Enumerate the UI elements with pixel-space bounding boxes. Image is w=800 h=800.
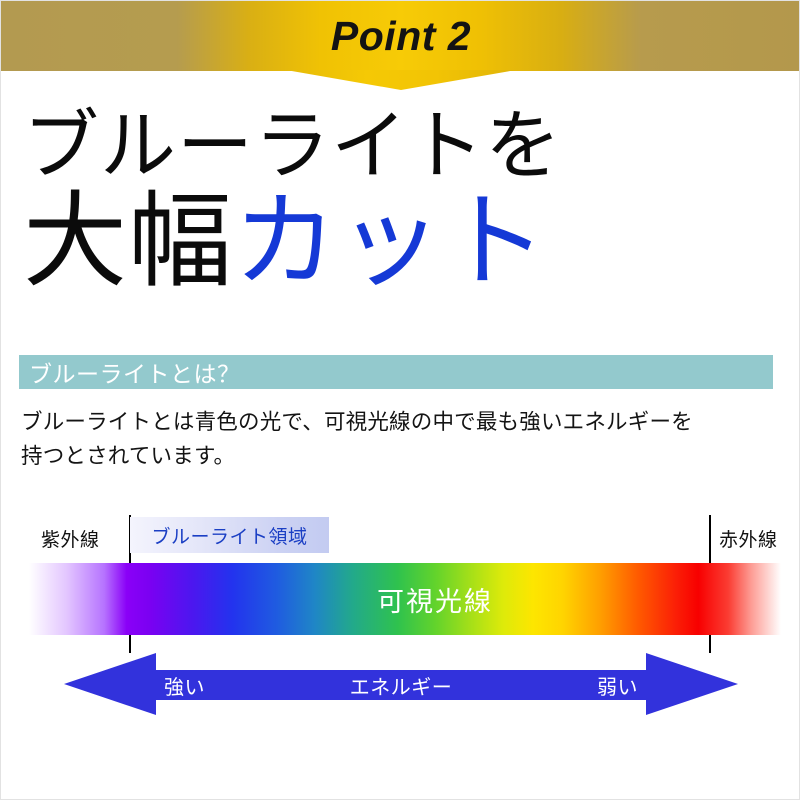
spectrum-band-label: 可視光線 — [317, 580, 493, 619]
label-bluelight-region: ブルーライト領域 — [151, 522, 307, 549]
headline-line-2: 大幅カット — [23, 185, 783, 301]
body-line-2: 持つとされています。 — [21, 439, 777, 473]
label-infrared: 赤外線 — [719, 525, 778, 552]
energy-label-weak: 弱い — [597, 670, 638, 700]
infographic-page: Point 2 ブルーライトを 大幅カット ブルーライトとは？ ブルーライトとは… — [0, 0, 800, 800]
label-ultraviolet: 紫外線 — [41, 525, 100, 552]
headline: ブルーライトを 大幅カット — [23, 105, 783, 301]
header-banner: Point 2 — [1, 1, 800, 89]
body-line-1: ブルーライトとは青色の光で、可視光線の中で最も強いエネルギーを — [21, 405, 777, 439]
spectrum-diagram: 紫外線 ブルーライト領域 赤外線 可視光線 強い エネルギー 弱い — [1, 501, 800, 731]
section-body-copy: ブルーライトとは青色の光で、可視光線の中で最も強いエネルギーを 持つとされていま… — [21, 405, 777, 473]
headline-line-2-accent: カット — [233, 185, 548, 300]
spectrum-band-label-wrap: 可視光線 — [29, 563, 781, 635]
banner-title: Point 2 — [1, 1, 800, 71]
section-heading-text: ブルーライトとは？ — [19, 355, 241, 389]
headline-line-1: ブルーライトを — [23, 105, 783, 189]
label-bluelight-region-box: ブルーライト領域 — [130, 517, 329, 553]
energy-axis-arrow: 強い エネルギー 弱い — [64, 653, 738, 715]
banner-chevron-tab — [286, 70, 516, 90]
section-heading-bar: ブルーライトとは？ — [19, 355, 773, 389]
headline-line-2-black: 大幅 — [23, 185, 233, 300]
